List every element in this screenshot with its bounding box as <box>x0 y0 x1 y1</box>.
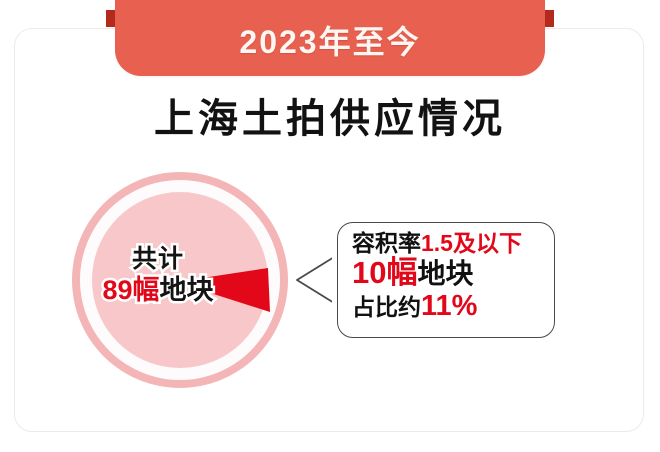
callout-line-3-value: 11% <box>421 290 477 322</box>
infographic-root: 2023年至今 上海土拍供应情况 共计 89幅地块 容积率1.5及以下 <box>0 0 660 452</box>
ribbon-body: 2023年至今 <box>115 0 545 76</box>
callout-line-3-label: 占比约 <box>352 294 421 320</box>
callout-box[interactable]: 容积率1.5及以下 10幅地块 占比约11% <box>337 222 555 338</box>
pie-center-label: 共计 89幅地块 <box>80 246 236 305</box>
callout-content: 容积率1.5及以下 10幅地块 占比约11% <box>338 223 556 339</box>
callout-line-1-label: 容积率 <box>352 230 421 256</box>
pie-total-value-row: 89幅地块 <box>80 276 236 304</box>
pie-total-prefix: 共计 <box>80 246 236 272</box>
header-ribbon: 2023年至今 <box>0 0 660 84</box>
callout-line-2-label: 地块 <box>417 258 473 289</box>
ribbon-label: 2023年至今 <box>115 0 545 76</box>
callout-pointer-icon <box>292 252 340 308</box>
callout-line-1: 容积率1.5及以下 <box>352 231 556 257</box>
callout-line-3: 占比约11% <box>352 290 556 322</box>
pie-total-value: 89幅 <box>102 275 159 305</box>
callout-line-1-value: 1.5及以下 <box>421 230 522 256</box>
pie-total-unit: 地块 <box>160 275 214 305</box>
callout-line-2-value: 10幅 <box>352 255 417 290</box>
callout-line-2: 10幅地块 <box>352 256 556 291</box>
pie-chart: 共计 89幅地块 <box>72 172 288 388</box>
page-title: 上海土拍供应情况 <box>0 86 660 144</box>
